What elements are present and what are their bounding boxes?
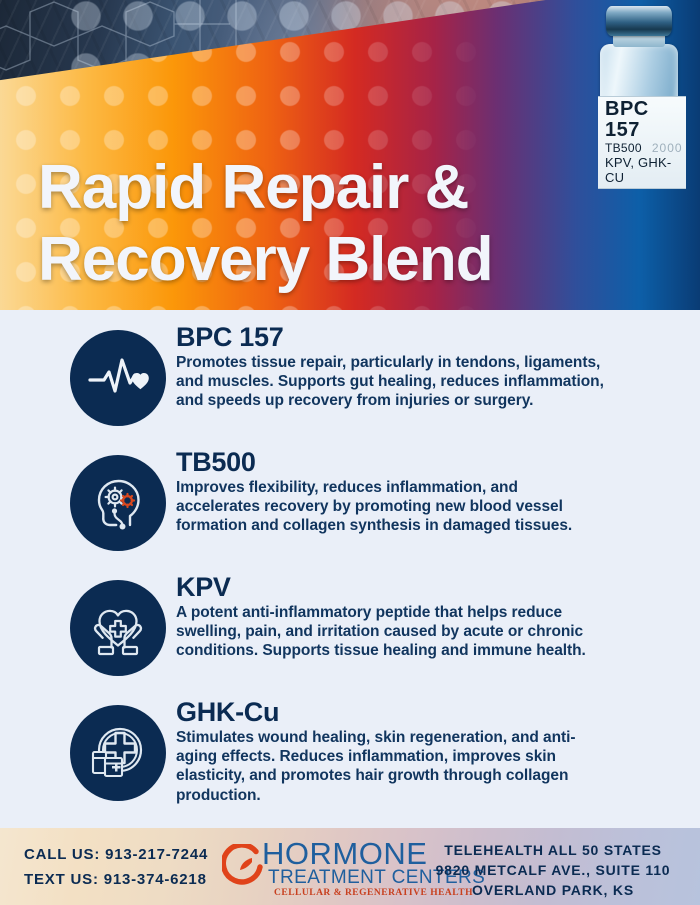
vial-label-line-3: KPV, GHK-CU (598, 155, 686, 185)
list-item-title: TB500 (176, 447, 606, 477)
list-item-description: Promotes tissue repair, particularly in … (176, 353, 606, 411)
list-item-text: TB500 Improves flexibility, reduces infl… (176, 447, 606, 536)
footer-address: TELEHEALTH ALL 50 STATES 9820 METCALF AV… (428, 840, 678, 900)
heartbeat-ekg-icon (70, 330, 166, 426)
list-item-text: KPV A potent anti-inflammatory peptide t… (176, 572, 606, 661)
vial-label: BPC 157 TB5002000 KPV, GHK-CU (598, 96, 686, 189)
medical-cross-medicine-icon (70, 705, 166, 801)
page-title-line-1: Rapid Repair & (38, 152, 638, 224)
call-us-text[interactable]: CALL US: 913-217-7244 (24, 842, 208, 867)
list-item: TB500 Improves flexibility, reduces infl… (0, 447, 700, 572)
vial-label-line-2-text: TB500 (605, 141, 642, 155)
list-item-description: Improves flexibility, reduces inflammati… (176, 478, 606, 536)
vial-label-line-2-faint: 2000 (652, 141, 683, 155)
peptide-list: BPC 157 Promotes tissue repair, particul… (0, 310, 700, 828)
address-line-1: TELEHEALTH ALL 50 STATES (428, 840, 678, 860)
vial-label-line-1: BPC 157 (598, 99, 686, 141)
vial-cap (606, 6, 672, 36)
list-item-description: Stimulates wound healing, skin regenerat… (176, 728, 606, 805)
footer-bar: CALL US: 913-217-7244 TEXT US: 913-374-6… (0, 828, 700, 905)
list-item: KPV A potent anti-inflammatory peptide t… (0, 572, 700, 697)
peptide-vial-image: BPC 157 TB5002000 KPV, GHK-CU (592, 0, 688, 178)
list-item-text: GHK-Cu Stimulates wound healing, skin re… (176, 697, 606, 805)
list-item-description: A potent anti-inflammatory peptide that … (176, 603, 606, 661)
address-line-2: 9820 METCALF AVE., SUITE 110 (428, 860, 678, 880)
list-item-title: KPV (176, 572, 606, 602)
list-item: GHK-Cu Stimulates wound healing, skin re… (0, 697, 700, 822)
head-gears-icon (70, 455, 166, 551)
list-item: BPC 157 Promotes tissue repair, particul… (0, 322, 700, 447)
list-item-text: BPC 157 Promotes tissue repair, particul… (176, 322, 606, 411)
list-item-title: BPC 157 (176, 322, 606, 352)
text-us-text[interactable]: TEXT US: 913-374-6218 (24, 867, 208, 892)
header-banner: Rapid Repair & Recovery Blend BPC 157 TB… (0, 0, 700, 310)
footer-contact: CALL US: 913-217-7244 TEXT US: 913-374-6… (24, 842, 208, 892)
infographic-poster: Rapid Repair & Recovery Blend BPC 157 TB… (0, 0, 700, 905)
hands-heart-cross-icon (70, 580, 166, 676)
address-line-3: OVERLAND PARK, KS (428, 880, 678, 900)
page-title: Rapid Repair & Recovery Blend (38, 152, 638, 296)
vial-label-line-2: TB5002000 (598, 141, 686, 155)
company-logo[interactable]: HORMONE TREATMENT CENTERS CELLULAR & REG… (222, 836, 452, 898)
page-title-line-2: Recovery Blend (38, 224, 638, 296)
list-item-title: GHK-Cu (176, 697, 606, 727)
logo-word: HORMONE (262, 838, 427, 870)
